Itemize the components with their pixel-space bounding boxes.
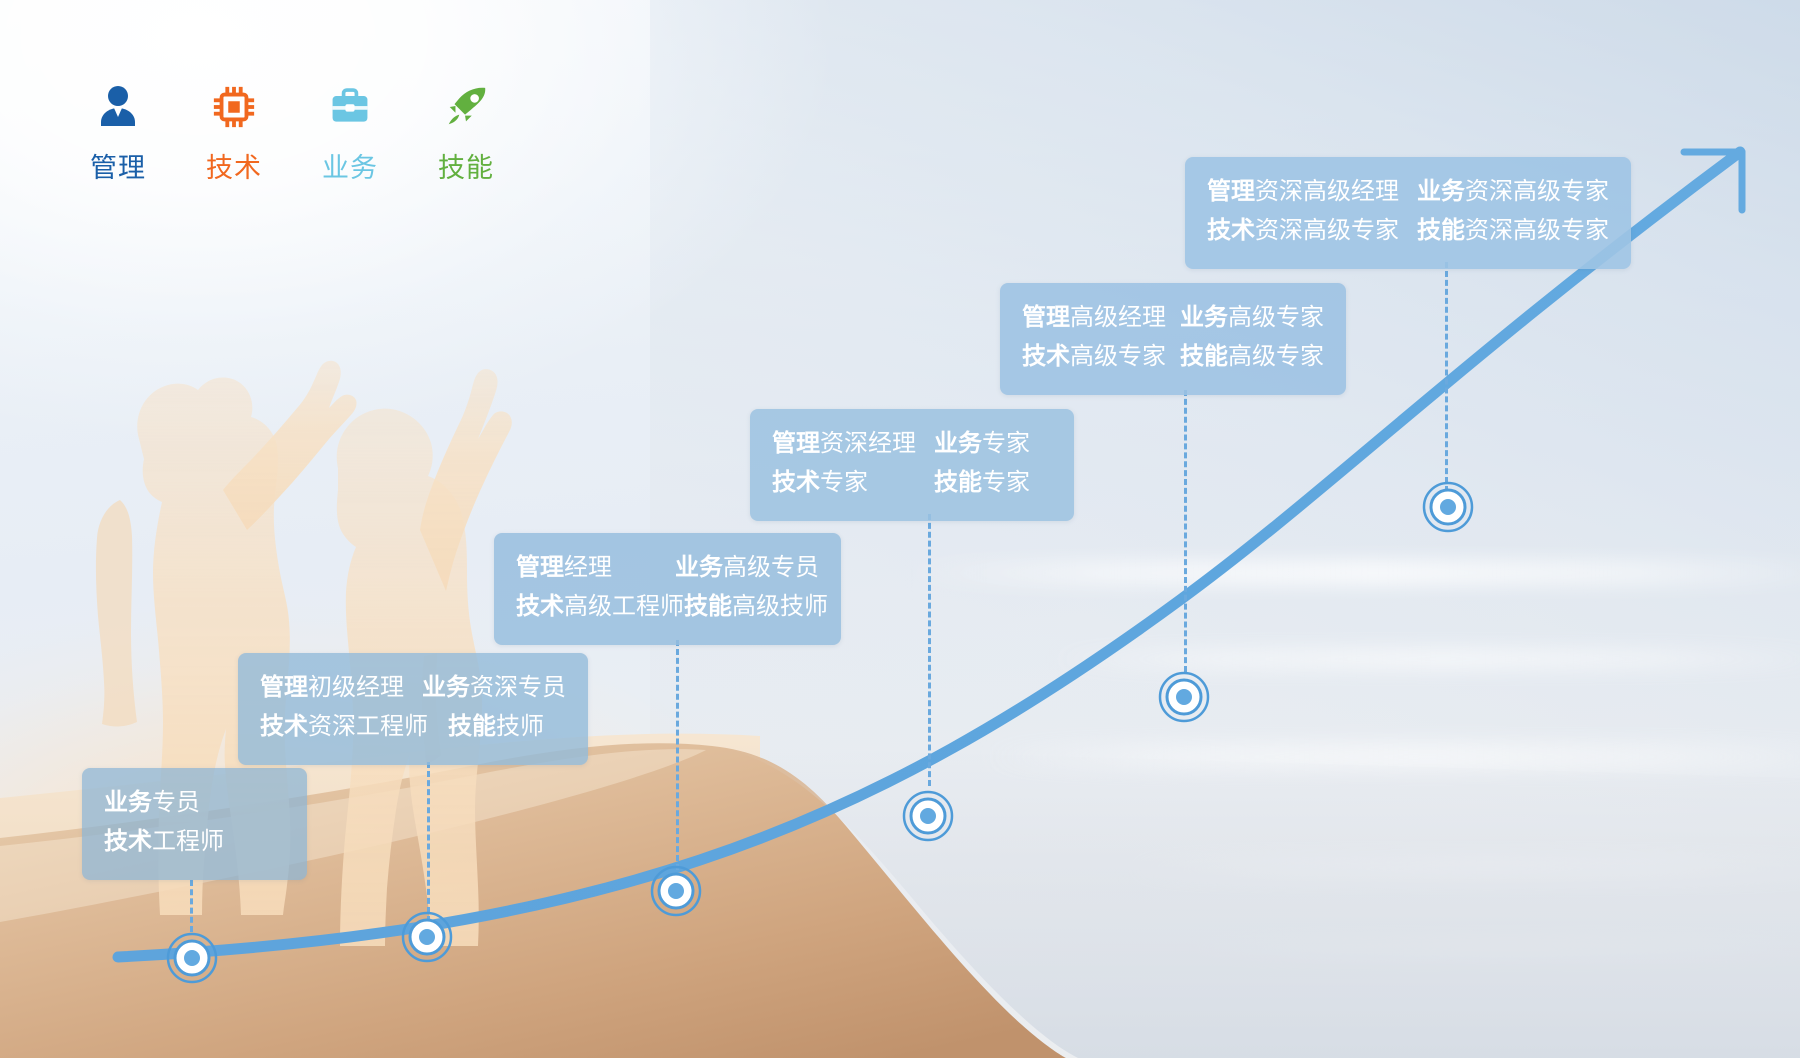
callout-cell: 业务高级专家: [1180, 299, 1324, 338]
callout-cell: 技术工程师: [104, 823, 224, 862]
callout-row: 技术专家 技能专家: [772, 464, 1052, 503]
category-tag: 技能: [1417, 212, 1465, 251]
job-title: 高级专员: [723, 549, 819, 588]
callout-row: 技术高级工程师 技能高级技师: [516, 588, 819, 627]
callout-cell: 技术资深工程师: [260, 708, 448, 747]
connector-line-2: [427, 762, 430, 922]
callout-row: 业务专员: [104, 784, 285, 823]
job-title: 高级专家: [1228, 338, 1324, 377]
job-title: 高级技师: [732, 588, 828, 627]
callout-cell: 技术专家: [772, 464, 934, 503]
stage-callout-2[interactable]: 管理初级经理 业务资深专员 技术资深工程师 技能技师: [238, 653, 588, 765]
category-legend: 管理 技术: [84, 82, 500, 185]
legend-label-business: 业务: [322, 146, 378, 185]
category-tag: 管理: [260, 669, 308, 708]
job-title: 专家: [982, 425, 1030, 464]
job-title: 高级经理: [1070, 299, 1166, 338]
connector-line-4: [928, 514, 931, 786]
stage-callout-3[interactable]: 管理经理 业务高级专员 技术高级工程师 技能高级技师: [494, 533, 841, 645]
category-tag: 技术: [1207, 212, 1255, 251]
job-title: 资深专员: [470, 669, 566, 708]
callout-row: 技术工程师: [104, 823, 285, 862]
callout-cell: 业务专员: [104, 784, 200, 823]
category-tag: 业务: [422, 669, 470, 708]
job-title: 初级经理: [308, 669, 404, 708]
job-title: 资深高级专家: [1465, 212, 1609, 251]
callout-cell: 管理高级经理: [1022, 299, 1180, 338]
legend-label-management: 管理: [90, 146, 146, 185]
category-tag: 技术: [104, 823, 152, 862]
briefcase-icon: [323, 82, 377, 132]
stage-callout-5[interactable]: 管理高级经理 业务高级专家 技术高级专家 技能高级专家: [1000, 283, 1346, 395]
category-tag: 技能: [684, 588, 732, 627]
callout-cell: 技能高级技师: [684, 588, 828, 627]
category-tag: 管理: [772, 425, 820, 464]
job-title: 经理: [564, 549, 612, 588]
callout-row: 技术资深工程师 技能技师: [260, 708, 566, 747]
callout-cell: 业务高级专员: [675, 549, 819, 588]
callout-cell: 业务资深高级专家: [1417, 173, 1609, 212]
category-tag: 技能: [1180, 338, 1228, 377]
legend-item-management[interactable]: 管理: [84, 82, 152, 185]
job-title: 高级专家: [1228, 299, 1324, 338]
category-tag: 业务: [934, 425, 982, 464]
callout-row: 管理资深经理 业务专家: [772, 425, 1052, 464]
category-tag: 技术: [260, 708, 308, 747]
connector-line-6: [1445, 262, 1448, 492]
callout-row: 管理高级经理 业务高级专家: [1022, 299, 1324, 338]
category-tag: 技术: [516, 588, 564, 627]
job-title: 高级专家: [1070, 338, 1166, 377]
callout-row: 管理初级经理 业务资深专员: [260, 669, 566, 708]
callout-cell: 业务资深专员: [422, 669, 566, 708]
callout-cell: 技术资深高级专家: [1207, 212, 1417, 251]
callout-cell: 技术高级工程师: [516, 588, 684, 627]
category-tag: 业务: [104, 784, 152, 823]
legend-item-technology[interactable]: 技术: [200, 82, 268, 185]
category-tag: 业务: [1417, 173, 1465, 212]
callout-row: 管理经理 业务高级专员: [516, 549, 819, 588]
legend-item-skill[interactable]: 技能: [432, 82, 500, 185]
legend-label-skill: 技能: [438, 146, 494, 185]
callout-cell: 技能资深高级专家: [1417, 212, 1609, 251]
callout-cell: 技能高级专家: [1180, 338, 1324, 377]
job-title: 工程师: [152, 823, 224, 862]
manager-person-icon: [91, 82, 145, 132]
callout-cell: 管理初级经理: [260, 669, 422, 708]
category-tag: 技术: [772, 464, 820, 503]
category-tag: 技能: [934, 464, 982, 503]
connector-line-5: [1184, 390, 1187, 672]
callout-cell: 管理资深高级经理: [1207, 173, 1417, 212]
stage-callout-4[interactable]: 管理资深经理 业务专家 技术专家 技能专家: [750, 409, 1074, 521]
category-tag: 管理: [1022, 299, 1070, 338]
callout-cell: 管理资深经理: [772, 425, 934, 464]
legend-item-business[interactable]: 业务: [316, 82, 384, 185]
job-title: 资深经理: [820, 425, 916, 464]
stage-callout-6[interactable]: 管理资深高级经理 业务资深高级专家 技术资深高级专家 技能资深高级专家: [1185, 157, 1631, 269]
category-tag: 业务: [1180, 299, 1228, 338]
callout-row: 技术高级专家 技能高级专家: [1022, 338, 1324, 377]
cpu-chip-icon: [207, 82, 261, 132]
job-title: 技师: [496, 708, 544, 747]
job-title: 资深工程师: [308, 708, 428, 747]
callout-cell: 技能技师: [448, 708, 544, 747]
job-title: 资深高级经理: [1255, 173, 1399, 212]
callout-cell: 业务专家: [934, 425, 1030, 464]
category-tag: 管理: [1207, 173, 1255, 212]
job-title: 专家: [982, 464, 1030, 503]
category-tag: 技术: [1022, 338, 1070, 377]
connector-line-1: [190, 880, 193, 932]
stage-callout-1[interactable]: 业务专员 技术工程师: [82, 768, 307, 880]
callout-row: 管理资深高级经理 业务资深高级专家: [1207, 173, 1609, 212]
job-title: 资深高级专家: [1465, 173, 1609, 212]
connector-line-3: [676, 640, 679, 870]
rocket-icon: [439, 82, 493, 132]
category-tag: 业务: [675, 549, 723, 588]
callout-row: 技术资深高级专家 技能资深高级专家: [1207, 212, 1609, 251]
job-title: 专家: [820, 464, 868, 503]
callout-cell: 技能专家: [934, 464, 1030, 503]
career-path-infographic: 管理 技术: [0, 0, 1800, 1058]
category-tag: 管理: [516, 549, 564, 588]
legend-label-technology: 技术: [206, 146, 262, 185]
category-tag: 技能: [448, 708, 496, 747]
job-title: 资深高级专家: [1255, 212, 1399, 251]
job-title: 专员: [152, 784, 200, 823]
callout-cell: 技术高级专家: [1022, 338, 1180, 377]
callout-cell: 管理经理: [516, 549, 675, 588]
job-title: 高级工程师: [564, 588, 684, 627]
